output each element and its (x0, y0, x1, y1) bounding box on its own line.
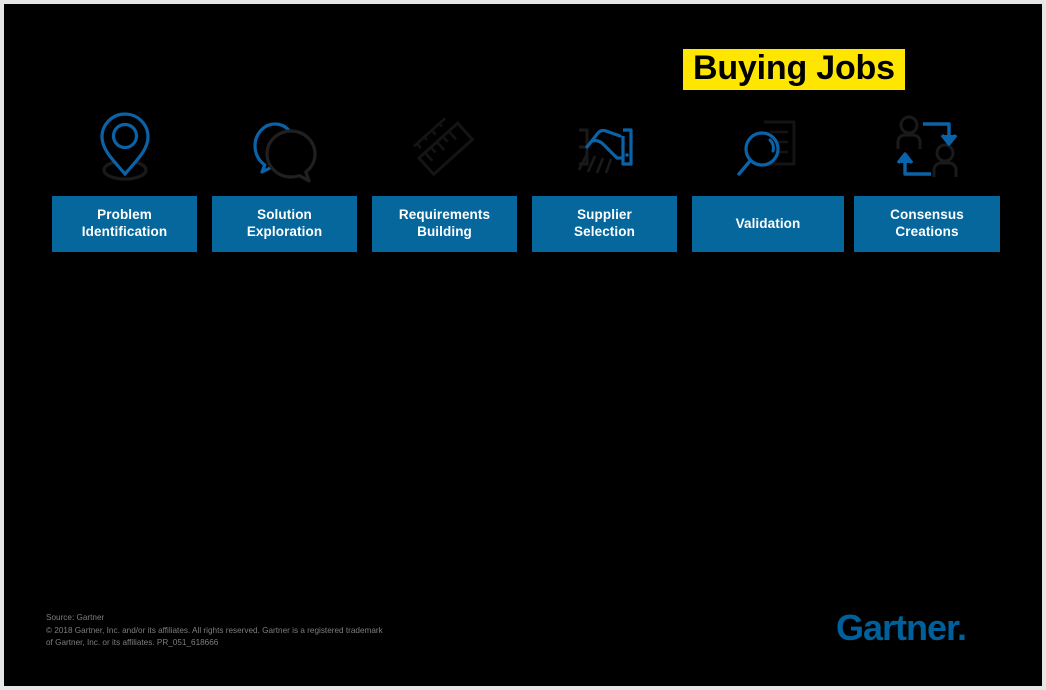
stage-supplier-selection[interactable]: Supplier Selection (532, 104, 677, 252)
stage-label: Solution Exploration (247, 207, 322, 241)
people-exchange-icon (854, 104, 1000, 192)
stage-label: Supplier Selection (574, 207, 635, 241)
stage-label: Problem Identification (82, 207, 167, 241)
stage-box-supplier-selection[interactable]: Supplier Selection (532, 196, 677, 252)
footer: Source: Gartner © 2018 Gartner, Inc. and… (46, 612, 566, 649)
footer-source: Source: Gartner (46, 612, 566, 624)
stage-box-consensus-creations[interactable]: Consensus Creations (854, 196, 1000, 252)
stage-box-validation[interactable]: Validation (692, 196, 844, 252)
gartner-logo: Gartner. (836, 606, 996, 652)
stage-consensus-creations[interactable]: Consensus Creations (854, 104, 1000, 252)
page-title-text: Buying Jobs (693, 49, 895, 87)
stage-box-solution-exploration[interactable]: Solution Exploration (212, 196, 357, 252)
magnifier-document-icon (692, 104, 844, 192)
stage-label: Requirements Building (399, 207, 490, 241)
stage-label: Consensus Creations (890, 207, 964, 241)
stage-box-requirements-building[interactable]: Requirements Building (372, 196, 517, 252)
map-pin-icon (52, 104, 197, 192)
page-title: Buying Jobs (683, 49, 905, 90)
speech-bubbles-icon (212, 104, 357, 192)
handshake-icon (532, 104, 677, 192)
svg-text:Gartner.: Gartner. (836, 607, 966, 648)
stage-problem-identification[interactable]: Problem Identification (52, 104, 197, 252)
stage-box-problem-identification[interactable]: Problem Identification (52, 196, 197, 252)
stage-solution-exploration[interactable]: Solution Exploration (212, 104, 357, 252)
stage-requirements-building[interactable]: Requirements Building (372, 104, 517, 252)
slide-canvas: Buying Jobs Problem Identification (0, 0, 1046, 690)
buying-jobs-stage-row: Problem Identification Solution Explorat… (52, 104, 1002, 252)
ruler-icon (372, 104, 517, 192)
footer-copyright: © 2018 Gartner, Inc. and/or its affiliat… (46, 625, 566, 649)
stage-label: Validation (736, 216, 801, 233)
stage-validation[interactable]: Validation (692, 104, 844, 252)
